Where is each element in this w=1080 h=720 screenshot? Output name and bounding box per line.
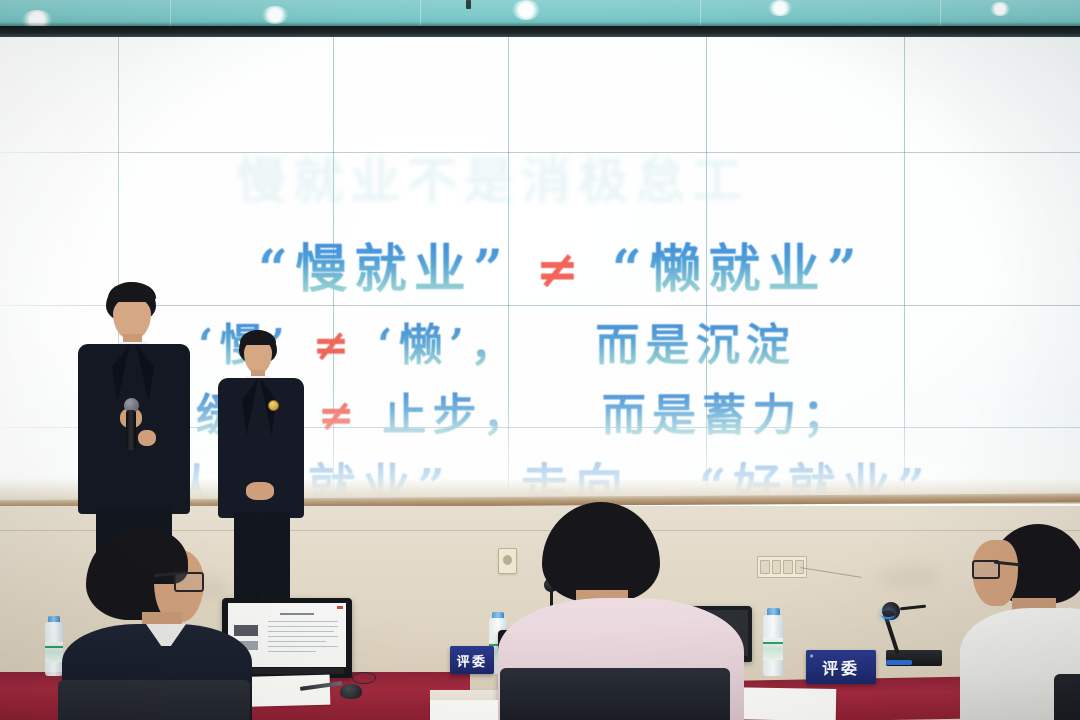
nameplate-logo: ● [810, 653, 814, 658]
water-bottle-right [762, 608, 784, 676]
judge-left [62, 528, 252, 720]
slide-text: “慢就业” [258, 239, 510, 300]
microphone-handle [126, 410, 136, 450]
screenshot-scene: 慢就业不是消极怠工 “慢就业” ≠ “懒就业” ‘慢’ ≠ ‘懒’， 而是沉淀 … [0, 0, 1080, 720]
clasped-hands [246, 482, 274, 500]
computer-mouse [340, 684, 362, 699]
judge-right [966, 524, 1080, 720]
nameplate-center: 评委 [450, 646, 494, 674]
ceiling-downlight-icon [990, 2, 1010, 16]
leg-right [262, 512, 290, 600]
lapel-badge-icon [268, 400, 279, 411]
face [244, 340, 272, 374]
ceiling-downlight-icon [768, 0, 792, 16]
slide-line-0: 慢就业不是消极怠工 [236, 141, 749, 213]
mic-stem [884, 615, 900, 654]
eyeglasses-icon [174, 572, 204, 592]
cable-coil [352, 672, 376, 684]
chair-back [1054, 674, 1080, 720]
not-equal-icon: ≠ [313, 320, 356, 371]
hand-right [138, 430, 156, 446]
doc-title-line [280, 613, 314, 615]
nameplate-text: 评委 [822, 655, 860, 679]
water-bottle-left [44, 616, 64, 676]
hair-fringe [108, 282, 156, 302]
slide-line-1: “慢就业” ≠ “懒就业” [258, 227, 864, 302]
slide-text: 而是沉淀 [595, 320, 796, 371]
mic-active-ring-icon [881, 610, 895, 619]
nameplate-text: 评委 [457, 651, 488, 670]
hair-top [240, 330, 276, 345]
ceiling-sprinkler-icon [466, 0, 471, 9]
ceiling-downlight-icon [512, 0, 540, 20]
slide-text: ‘懒’， [377, 320, 520, 371]
not-equal-icon: ≠ [536, 240, 587, 300]
hair [542, 502, 660, 602]
slide-text: “懒就业” [612, 239, 864, 300]
chair-back [58, 680, 250, 720]
nameplate-right: ● 评委 [806, 650, 876, 684]
gooseneck-microphone-right [880, 598, 950, 668]
mic-stem-upper [900, 605, 926, 611]
chair-back [500, 668, 730, 720]
judge-center [508, 502, 738, 720]
